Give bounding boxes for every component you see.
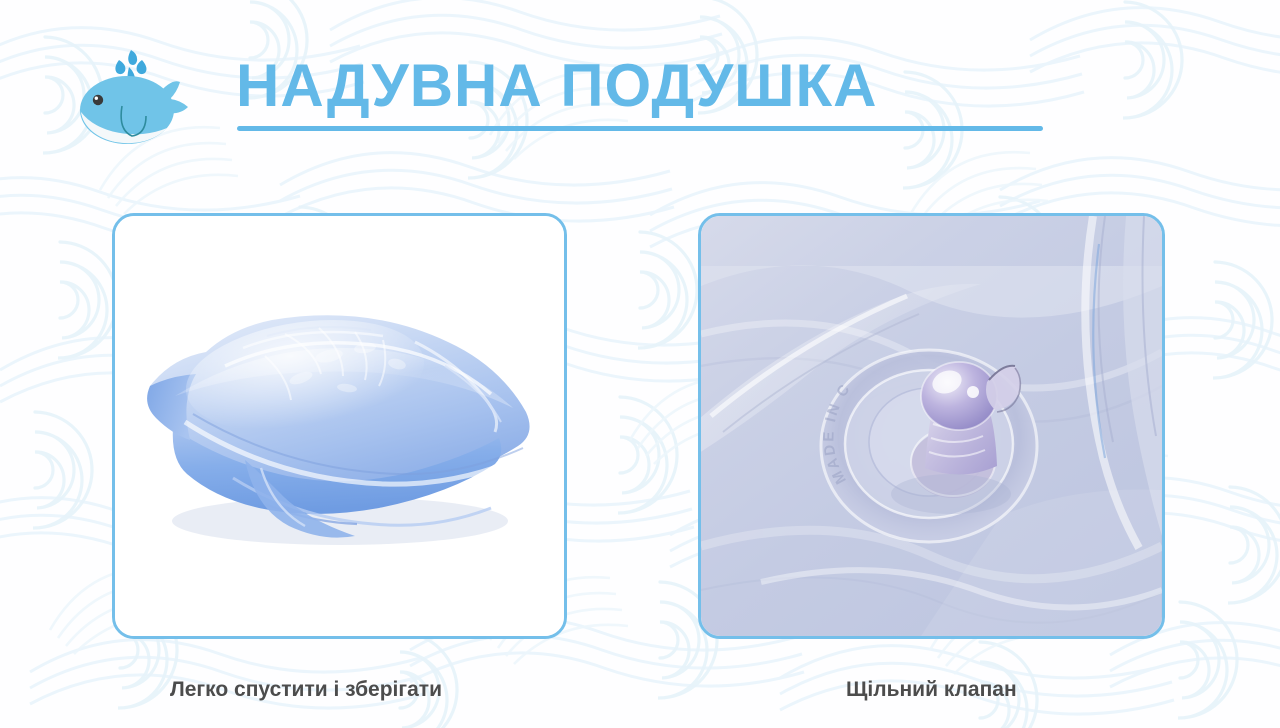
whale-logo-icon xyxy=(72,36,192,156)
valve-closeup-image: MADE IN CHINA xyxy=(701,216,1162,636)
card-deflated-pillow xyxy=(112,213,567,639)
caption-deflated-pillow: Легко спустити і зберігати xyxy=(170,678,442,702)
caption-valve: Щільний клапан xyxy=(846,678,1017,702)
card-valve-closeup: MADE IN CHINA xyxy=(698,213,1165,639)
deflated-pillow-image xyxy=(115,216,564,636)
title-underline-rule xyxy=(237,126,1043,131)
page-title: НАДУВНА ПОДУШКА xyxy=(236,56,877,116)
slide-root: НАДУВНА ПОДУШКА xyxy=(0,0,1280,728)
